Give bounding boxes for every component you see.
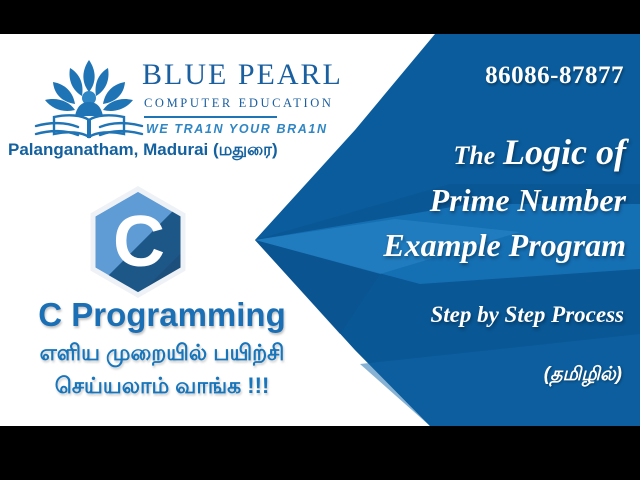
brand-name: BLUE PEARL: [142, 58, 343, 92]
title-line-3: Example Program: [306, 222, 626, 268]
lotus-book-logo-icon: [34, 56, 144, 148]
brand-divider: [144, 116, 277, 118]
title-word-the: The: [453, 141, 495, 170]
tamil-heading-line-2: செய்யலாம் வாங்க !!!: [6, 373, 318, 402]
title-line-2: Prime Number: [306, 178, 626, 222]
language-note: (தமிழில்): [544, 364, 622, 388]
brand-location: Palanganatham, Madurai (மதுரை): [8, 140, 278, 162]
title-word-logic-of: Logic of: [503, 132, 626, 172]
brand-tagline: WE TRA1N YOUR BRA1N: [146, 122, 328, 136]
c-programming-heading: C Programming: [12, 296, 312, 334]
c-language-hexagon-logo-icon: C: [86, 186, 190, 298]
brand-subtitle: COMPUTER EDUCATION: [144, 96, 334, 111]
letterbox-bottom: [0, 426, 640, 480]
svg-text:C: C: [113, 202, 165, 282]
thumbnail-content: 86086-87877 The Logic of Prime Number Ex…: [0, 34, 640, 426]
main-title-block: The Logic of Prime Number Example Progra…: [306, 130, 626, 268]
subtitle-step-by-step: Step by Step Process: [430, 302, 624, 328]
letterbox-top: [0, 0, 640, 34]
video-thumbnail-frame: 86086-87877 The Logic of Prime Number Ex…: [0, 0, 640, 480]
title-line-1: The Logic of: [306, 130, 626, 178]
phone-number: 86086-87877: [485, 62, 624, 90]
tamil-heading-line-1: எளிய முறையில் பயிற்சி: [6, 340, 318, 369]
